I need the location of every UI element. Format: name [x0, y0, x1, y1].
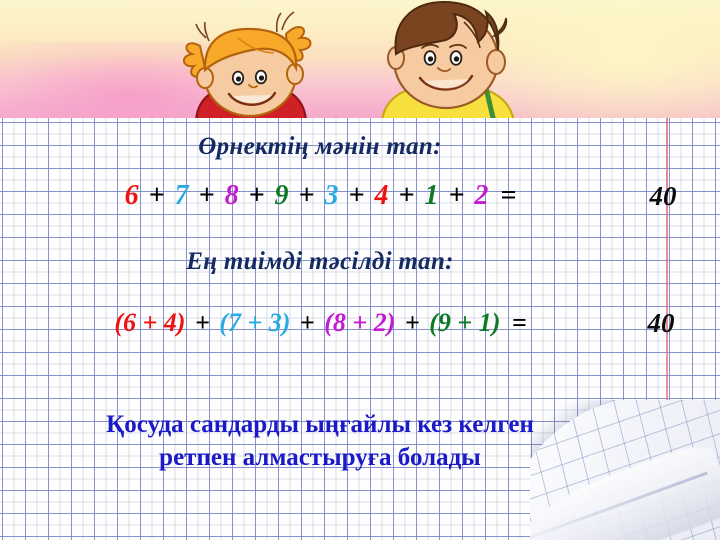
task-two-answer: 40 [618, 308, 704, 339]
plus-operator: + [389, 180, 423, 211]
plus-operator: + [290, 180, 324, 211]
term-2: 7 [174, 180, 190, 211]
plus-operator: + [396, 308, 428, 337]
term-7: 1 [423, 180, 439, 211]
equals-sign: = [501, 308, 526, 337]
task-one-answer: 40 [620, 181, 706, 212]
plus-operator: + [140, 180, 174, 211]
plus-operator: + [340, 180, 374, 211]
task-two-prompt: Ең тиімді тәсілді тап: [0, 248, 640, 276]
group-4: (9 + 1) [428, 308, 501, 337]
term-6: 4 [373, 180, 389, 211]
term-8: 2 [473, 180, 489, 211]
term-1: 6 [124, 180, 140, 211]
conclusion-line-1: Қосуда сандарды ыңғайлы кез келген [30, 408, 610, 441]
plus-operator: + [186, 308, 218, 337]
equals-sign: = [489, 180, 516, 211]
group-1: (6 + 4) [113, 308, 186, 337]
conclusion-line-2: ретпен алмастыруға болады [30, 441, 610, 474]
header-illustration-band [0, 0, 720, 120]
group-3: (8 + 2) [323, 308, 396, 337]
term-3: 8 [224, 180, 240, 211]
term-4: 9 [274, 180, 290, 211]
plus-operator: + [291, 308, 323, 337]
plus-operator: + [190, 180, 224, 211]
girl-illustration [176, 8, 326, 120]
term-5: 3 [324, 180, 340, 211]
task-one-equation: 6 + 7 + 8 + 9 + 3 + 4 + 1 + 2 = [0, 180, 640, 212]
task-two-equation: (6 + 4) + (7 + 3) + (8 + 2) + (9 + 1) = [0, 308, 640, 338]
group-2: (7 + 3) [218, 308, 291, 337]
lesson-content: Өрнектің мәнін тап: 6 + 7 + 8 + 9 + 3 + … [0, 118, 720, 540]
slide-canvas: Өрнектің мәнін тап: 6 + 7 + 8 + 9 + 3 + … [0, 0, 720, 540]
task-one-prompt: Өрнектің мәнін тап: [0, 133, 640, 161]
conclusion-text: Қосуда сандарды ыңғайлы кез келген ретпе… [30, 408, 610, 474]
plus-operator: + [439, 180, 473, 211]
boy-illustration [368, 0, 528, 120]
plus-operator: + [240, 180, 274, 211]
